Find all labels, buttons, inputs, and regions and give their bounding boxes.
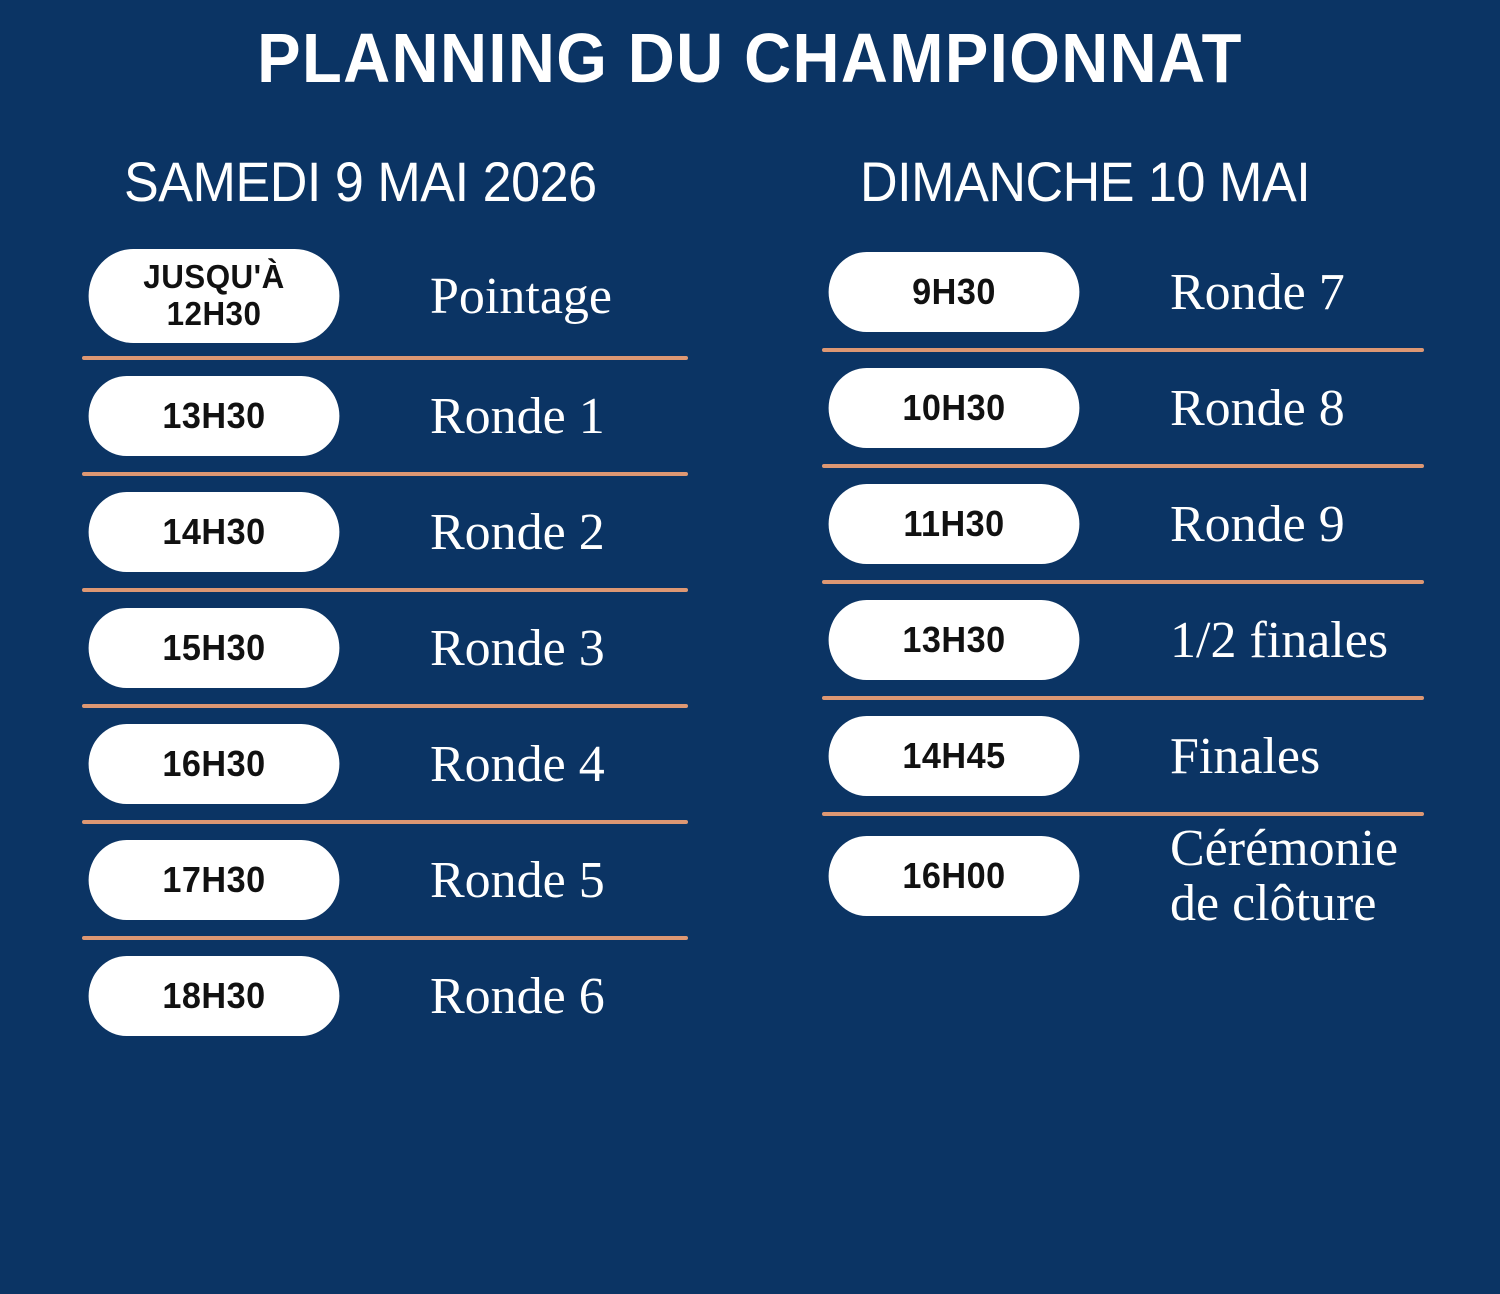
event-label-sunday-3: Ronde 9: [1086, 497, 1424, 552]
schedule-row: 18H30Ronde 6: [82, 940, 688, 1052]
schedule-rows-sunday: 9H30Ronde 710H30Ronde 811H30Ronde 913H30…: [822, 236, 1424, 936]
schedule-row: 16H00Cérémonie de clôture: [822, 816, 1424, 936]
championship-schedule-poster: PLANNING DU CHAMPIONNAT SAMEDI 9 MAI 202…: [0, 0, 1500, 1294]
time-pill-saturday-7: 18H30: [89, 956, 340, 1036]
time-pill-sunday-3: 11H30: [829, 484, 1080, 564]
page-title: PLANNING DU CHAMPIONNAT: [53, 22, 1448, 96]
schedule-column-sunday: DIMANCHE 10 MAI 9H30Ronde 710H30Ronde 81…: [822, 150, 1424, 936]
time-pill-saturday-1: JUSQU'À12H30: [89, 249, 340, 343]
time-pill-saturday-2: 13H30: [89, 376, 340, 456]
event-label-sunday-1: Ronde 7: [1086, 265, 1424, 320]
event-label-sunday-6: Cérémonie de clôture: [1086, 821, 1424, 931]
schedule-row: 14H30Ronde 2: [82, 476, 688, 588]
schedule-row: 9H30Ronde 7: [822, 236, 1424, 348]
schedule-row: JUSQU'À12H30Pointage: [82, 236, 688, 356]
event-label-saturday-4: Ronde 3: [346, 621, 688, 676]
schedule-row: 10H30Ronde 8: [822, 352, 1424, 464]
time-pill-sunday-5: 14H45: [829, 716, 1080, 796]
time-pill-sunday-1: 9H30: [829, 252, 1080, 332]
time-pill-saturday-4: 15H30: [89, 608, 340, 688]
time-pill-sunday-4: 13H30: [829, 600, 1080, 680]
schedule-columns: SAMEDI 9 MAI 2026 JUSQU'À12H30Pointage13…: [0, 150, 1500, 1290]
time-pill-saturday-6: 17H30: [89, 840, 340, 920]
schedule-row: 14H45Finales: [822, 700, 1424, 812]
schedule-row: 13H301/2 finales: [822, 584, 1424, 696]
schedule-row: 13H30Ronde 1: [82, 360, 688, 472]
time-pill-sunday-2: 10H30: [829, 368, 1080, 448]
event-label-saturday-6: Ronde 5: [346, 853, 688, 908]
event-label-sunday-4: 1/2 finales: [1086, 613, 1424, 668]
time-pill-saturday-5: 16H30: [89, 724, 340, 804]
time-pill-sunday-6: 16H00: [829, 836, 1080, 916]
time-pill-saturday-3: 14H30: [89, 492, 340, 572]
event-label-sunday-5: Finales: [1086, 729, 1424, 784]
schedule-row: 17H30Ronde 5: [82, 824, 688, 936]
schedule-row: 15H30Ronde 3: [82, 592, 688, 704]
schedule-row: 16H30Ronde 4: [82, 708, 688, 820]
event-label-saturday-5: Ronde 4: [346, 737, 688, 792]
event-label-saturday-1: Pointage: [346, 269, 688, 324]
schedule-column-saturday: SAMEDI 9 MAI 2026 JUSQU'À12H30Pointage13…: [82, 150, 688, 1052]
event-label-saturday-2: Ronde 1: [346, 389, 688, 444]
event-label-sunday-2: Ronde 8: [1086, 381, 1424, 436]
day-header-saturday: SAMEDI 9 MAI 2026: [124, 150, 649, 214]
schedule-row: 11H30Ronde 9: [822, 468, 1424, 580]
event-label-saturday-7: Ronde 6: [346, 969, 688, 1024]
day-header-sunday: DIMANCHE 10 MAI: [860, 150, 1385, 214]
schedule-rows-saturday: JUSQU'À12H30Pointage13H30Ronde 114H30Ron…: [82, 236, 688, 1052]
event-label-saturday-3: Ronde 2: [346, 505, 688, 560]
